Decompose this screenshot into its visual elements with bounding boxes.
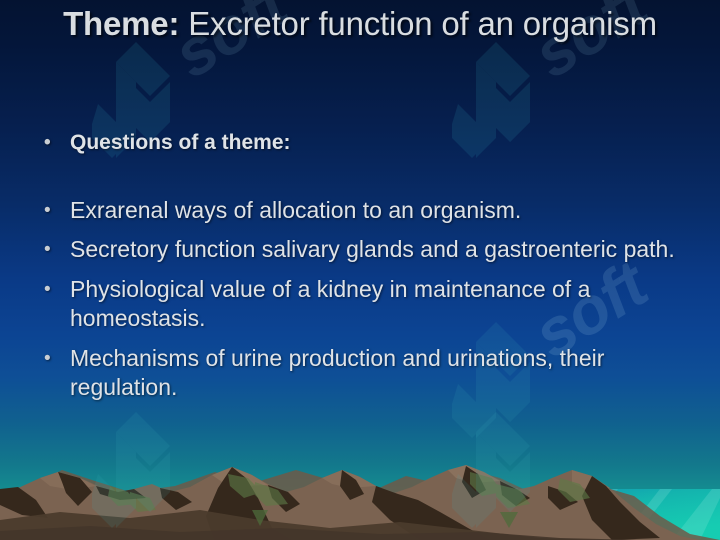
- bullet-dot-icon: •: [44, 344, 64, 373]
- list-item-text: Exrarenal ways of allocation to an organ…: [70, 197, 521, 223]
- watermark-bottom-right: [452, 412, 544, 540]
- list-item-text: Secretory function salivary glands and a…: [70, 236, 675, 262]
- slide-title-rest: Excretor function of an organism: [179, 5, 657, 42]
- k-chevron-logo-icon: [452, 412, 544, 540]
- bullet-heading-text: Questions of a theme:: [70, 131, 291, 154]
- bullet-dot-icon: •: [44, 196, 64, 225]
- vegetation-patches: [108, 472, 590, 512]
- list-item-text: Physiological value of a kidney in maint…: [70, 276, 590, 331]
- mountain-shadows: [0, 466, 660, 540]
- bullet-dot-icon: •: [44, 275, 64, 304]
- sea-region: [430, 488, 720, 540]
- mountain-ridge-back: [0, 470, 720, 540]
- list-item-text: Mechanisms of urine production and urina…: [70, 345, 604, 400]
- bullet-heading: • Questions of a theme:: [36, 128, 686, 157]
- slide-body: • Questions of a theme: • Exrarenal ways…: [36, 128, 686, 402]
- list-item: • Secretory function salivary glands and…: [36, 235, 686, 264]
- watermark-bottom-left: [92, 412, 184, 540]
- list-item: • Physiological value of a kidney in mai…: [36, 275, 686, 333]
- list-item: • Exrarenal ways of allocation to an org…: [36, 196, 686, 225]
- mountain-foreground: [0, 510, 720, 540]
- bullet-dot-icon: •: [44, 235, 64, 264]
- slide-title: Theme: Excretor function of an organism: [36, 2, 684, 45]
- mountain-ridge-main: [0, 465, 720, 540]
- body-gap: [36, 225, 686, 235]
- body-spacer: [36, 157, 686, 196]
- k-chevron-logo-icon: [92, 412, 184, 540]
- body-gap: [36, 333, 686, 344]
- vegetation-tips: [252, 510, 518, 528]
- list-item: • Mechanisms of urine production and uri…: [36, 344, 686, 402]
- presentation-slide: soft soft soft: [0, 0, 720, 540]
- body-gap: [36, 264, 686, 275]
- bullet-dot-icon: •: [44, 128, 64, 157]
- slide-title-prefix: Theme:: [63, 5, 179, 42]
